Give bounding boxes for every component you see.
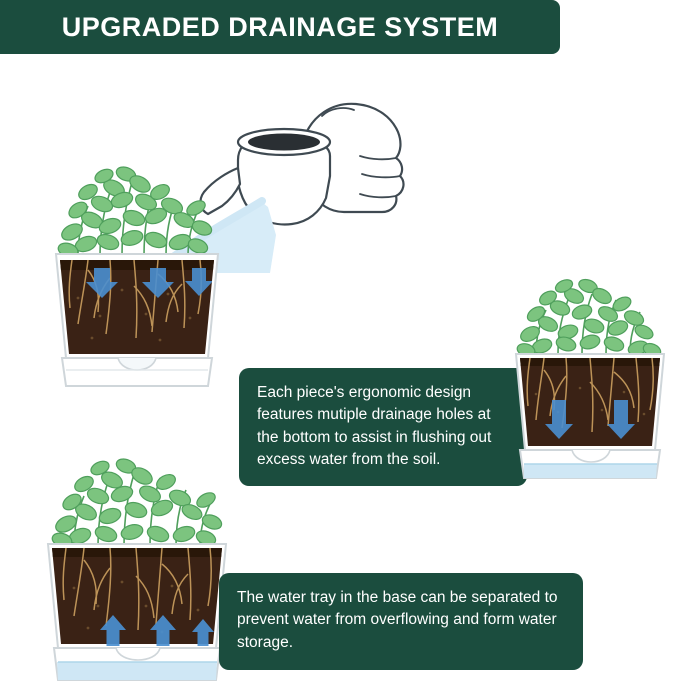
- foliage-cluster: [51, 456, 224, 549]
- callout-text: Each piece's ergonomic design features m…: [257, 382, 509, 472]
- callout-drainage-holes: Each piece's ergonomic design features m…: [239, 368, 527, 486]
- callout-text: The water tray in the base can be separa…: [237, 587, 565, 654]
- foliage-cluster: [57, 164, 214, 259]
- planter-bottom-left: [40, 448, 235, 688]
- page-title: UPGRADED DRAINAGE SYSTEM: [62, 12, 499, 43]
- pot-body: [48, 544, 228, 680]
- pot-body: [516, 354, 666, 478]
- infographic-canvas: UPGRADED DRAINAGE SYSTEM: [0, 0, 679, 691]
- pot-body: [56, 254, 220, 386]
- header-banner: UPGRADED DRAINAGE SYSTEM: [0, 0, 560, 54]
- callout-water-tray: The water tray in the base can be separa…: [219, 573, 583, 670]
- foliage-cluster: [516, 277, 663, 359]
- planter-top-left: [48, 148, 226, 396]
- planter-middle-right: [510, 270, 670, 495]
